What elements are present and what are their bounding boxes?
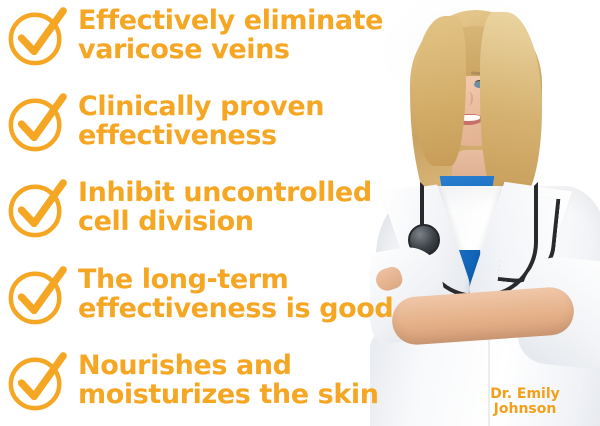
- hair-strand-left: [414, 16, 466, 166]
- benefit-item-5: Nourishes and moisturizes the skin: [6, 349, 379, 413]
- benefit-item-1: Effectively eliminate varicose veins: [6, 4, 383, 68]
- check-circle-icon: [6, 6, 68, 68]
- benefit-item-4: The long-term effectiveness is good: [6, 263, 393, 327]
- benefit-label: Nourishes and moisturizes the skin: [78, 349, 379, 410]
- check-circle-icon: [6, 265, 68, 327]
- check-circle-icon: [6, 92, 68, 154]
- benefit-label: Clinically proven effectiveness: [78, 90, 324, 151]
- promo-banner: Effectively eliminate varicose veins Cli…: [0, 0, 600, 426]
- check-circle-icon: [6, 178, 68, 240]
- doctor-name-caption: Dr. Emily Johnson: [466, 387, 584, 418]
- check-circle-icon: [6, 351, 68, 413]
- benefit-label: Effectively eliminate varicose veins: [78, 4, 383, 65]
- doctor-photo: [370, 0, 600, 426]
- benefit-item-2: Clinically proven effectiveness: [6, 90, 324, 154]
- benefit-item-3: Inhibit uncontrolled cell division: [6, 176, 372, 240]
- benefit-label: Inhibit uncontrolled cell division: [78, 176, 372, 237]
- benefit-label: The long-term effectiveness is good: [78, 263, 393, 324]
